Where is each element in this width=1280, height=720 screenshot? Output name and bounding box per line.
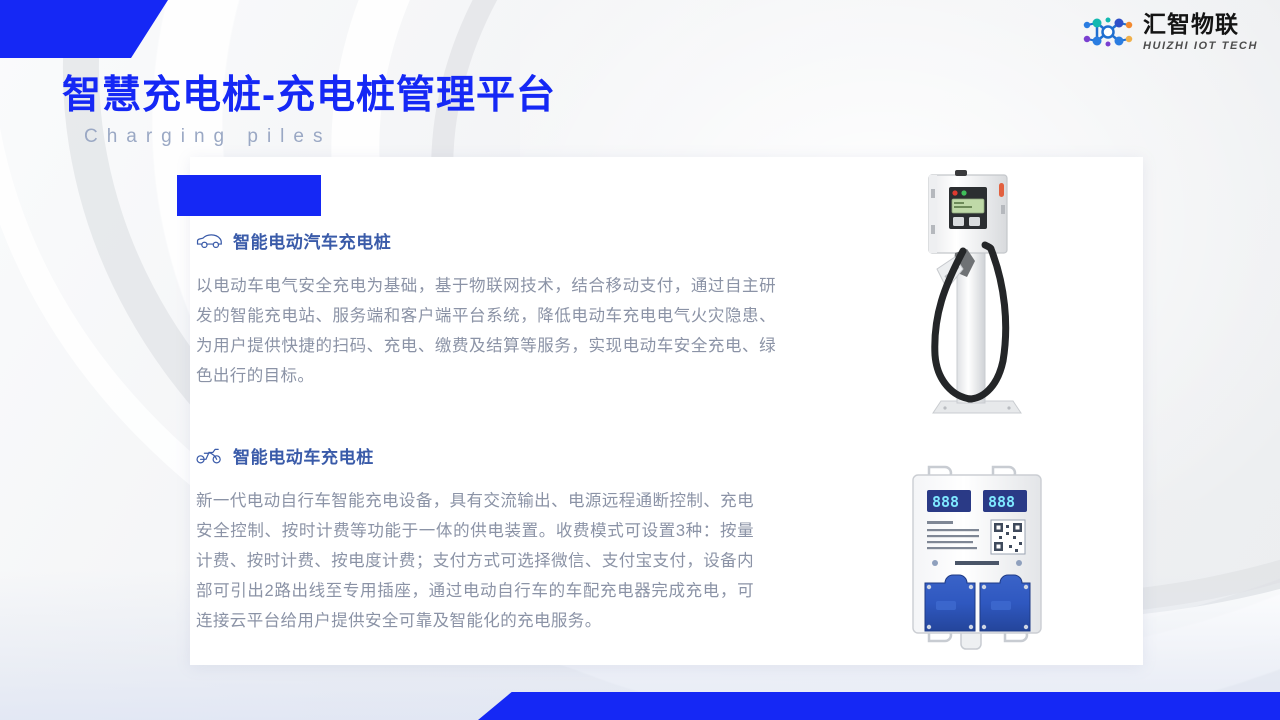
section-2-body: 新一代电动自行车智能充电设备，具有交流输出、电源远程通断控制、充电安全控制、按时… <box>196 486 754 636</box>
molecule-network-icon <box>1080 10 1136 54</box>
section-2-heading-row: 智能电动车充电桩 <box>196 443 776 468</box>
ebike-charging-box-illustration: 888 888 <box>895 465 1060 655</box>
svg-text:888: 888 <box>932 493 959 511</box>
car-icon <box>196 232 222 250</box>
ebike-charging-box-photo: 888 888 <box>895 465 1060 655</box>
page-subtitle: Charging piles <box>84 126 331 148</box>
section-ebike-pile: 智能电动车充电桩 新一代电动自行车智能充电设备，具有交流输出、电源远程通断控制、… <box>196 443 776 636</box>
brand-name-cn: 汇智物联 <box>1143 13 1258 36</box>
section-1-heading: 智能电动汽车充电桩 <box>233 228 391 253</box>
ev-charging-pile-photo <box>893 165 1073 420</box>
ev-charging-pile-illustration <box>893 165 1073 420</box>
brand-logo: 汇智物联 HUIZHI IOT TECH <box>1080 10 1258 54</box>
section-1-body: 以电动车电气安全充电为基础，基于物联网技术，结合移动支付，通过自主研发的智能充电… <box>196 271 776 391</box>
section-1-heading-row: 智能电动汽车充电桩 <box>196 228 776 253</box>
page-title: 智慧充电桩-充电桩管理平台 <box>62 64 556 120</box>
corner-accent-bottom-right <box>478 692 1280 720</box>
brand-name-en: HUIZHI IOT TECH <box>1143 41 1258 52</box>
scooter-icon <box>196 446 222 465</box>
section-ev-car-pile: 智能电动汽车充电桩 以电动车电气安全充电为基础，基于物联网技术，结合移动支付，通… <box>196 228 776 391</box>
slide-root: 智慧充电桩-充电桩管理平台 Charging piles <box>0 0 1280 720</box>
brand-logo-text: 汇智物联 HUIZHI IOT TECH <box>1143 13 1258 52</box>
section-2-heading: 智能电动车充电桩 <box>233 443 374 468</box>
svg-text:888: 888 <box>988 493 1015 511</box>
card-tag-block <box>177 175 321 216</box>
